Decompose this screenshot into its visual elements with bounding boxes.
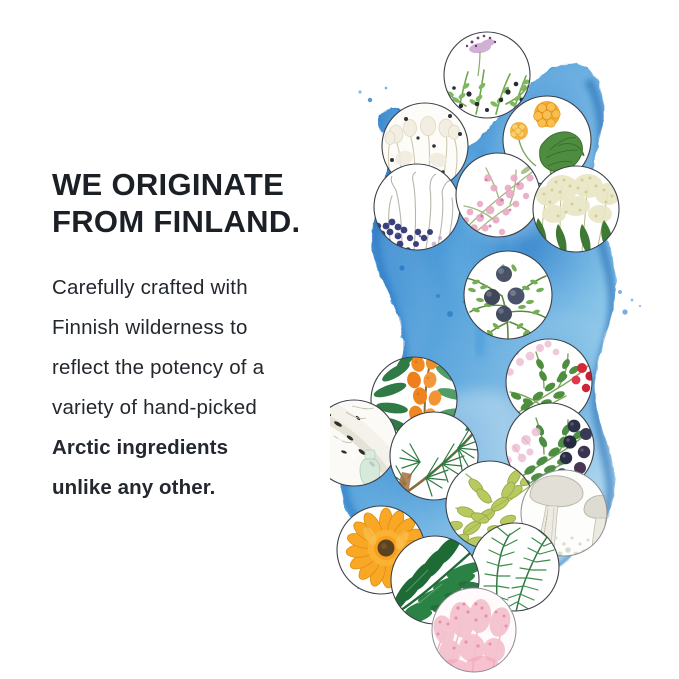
heather-crowberry-circle (444, 32, 531, 118)
poster-canvas: WE ORIGINATE FROM FINLAND. Carefully cra… (0, 0, 679, 679)
juniper-berry-circle (464, 251, 552, 339)
pink-heather-circle (430, 588, 516, 679)
body-line: variety of hand-picked (52, 388, 352, 428)
body-line-emphasis: unlike any other. (52, 468, 352, 508)
text-block: WE ORIGINATE FROM FINLAND. Carefully cra… (52, 166, 352, 508)
page-title: WE ORIGINATE FROM FINLAND. (52, 166, 352, 240)
body-line-emphasis: Arctic ingredients (52, 428, 352, 468)
cloudberry-fruit-small (510, 122, 528, 140)
finland-map-illustration (330, 0, 679, 679)
body-line: reflect the potency of a (52, 348, 352, 388)
body-line: Finnish wilderness to (52, 308, 352, 348)
body-line: Carefully crafted with (52, 268, 352, 308)
body-copy: Carefully crafted with Finnish wildernes… (52, 268, 352, 508)
